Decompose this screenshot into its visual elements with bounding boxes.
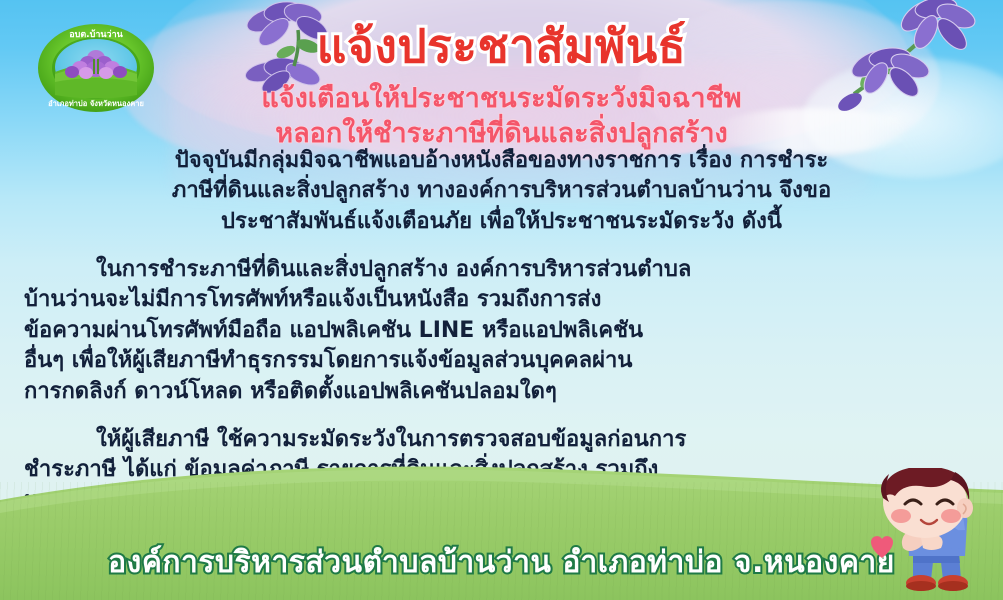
paragraph-line: อื่นๆ เพื่อให้ผู้เสียภาษีทำธุรกรรมโดยการ… xyxy=(24,346,979,376)
paragraph-line: ปัจจุบันมีกลุ่มมิจฉาชีพแอบอ้างหนังสือของ… xyxy=(24,146,979,176)
poster-canvas: อบต.บ้านว่าน อำเภอท่าบ่อ จังหวัดหนองคาย xyxy=(0,0,1003,600)
bowing-boy-mascot xyxy=(847,468,997,598)
page-subtitle: แจ้งเตือนให้ประชาชนระมัดระวังมิจฉาชีพ หล… xyxy=(0,82,1003,151)
paragraph-line: ให้ผู้เสียภาษี ใช้ความระมัดระวังในการตรว… xyxy=(24,425,979,455)
subtitle-line-1: แจ้งเตือนให้ประชาชนระมัดระวังมิจฉาชีพ xyxy=(0,82,1003,117)
heart-icon xyxy=(871,536,893,558)
paragraph-line: ประชาสัมพันธ์แจ้งเตือนภัย เพื่อให้ประชาช… xyxy=(24,207,979,237)
paragraph-line: ในการชำระภาษีที่ดินและสิ่งปลูกสร้าง องค์… xyxy=(24,255,979,285)
paragraph-2: ในการชำระภาษีที่ดินและสิ่งปลูกสร้าง องค์… xyxy=(24,255,979,407)
paragraph-line: การกดลิงก์ ดาวน์โหลด หรือติดตั้งแอปพลิเค… xyxy=(24,377,979,407)
page-title: แจ้งประชาสัมพันธ์ xyxy=(0,22,1003,70)
paragraph-line: ภาษีที่ดินและสิ่งปลูกสร้าง ทางองค์การบริ… xyxy=(24,176,979,206)
paragraph-line: ข้อความผ่านโทรศัพท์มือถือ แอปพลิเคชัน LI… xyxy=(24,316,979,346)
paragraph-1: ปัจจุบันมีกลุ่มมิจฉาชีพแอบอ้างหนังสือของ… xyxy=(24,146,979,237)
paragraph-line: บ้านว่านจะไม่มีการโทรศัพท์หรือแจ้งเป็นหน… xyxy=(24,285,979,315)
